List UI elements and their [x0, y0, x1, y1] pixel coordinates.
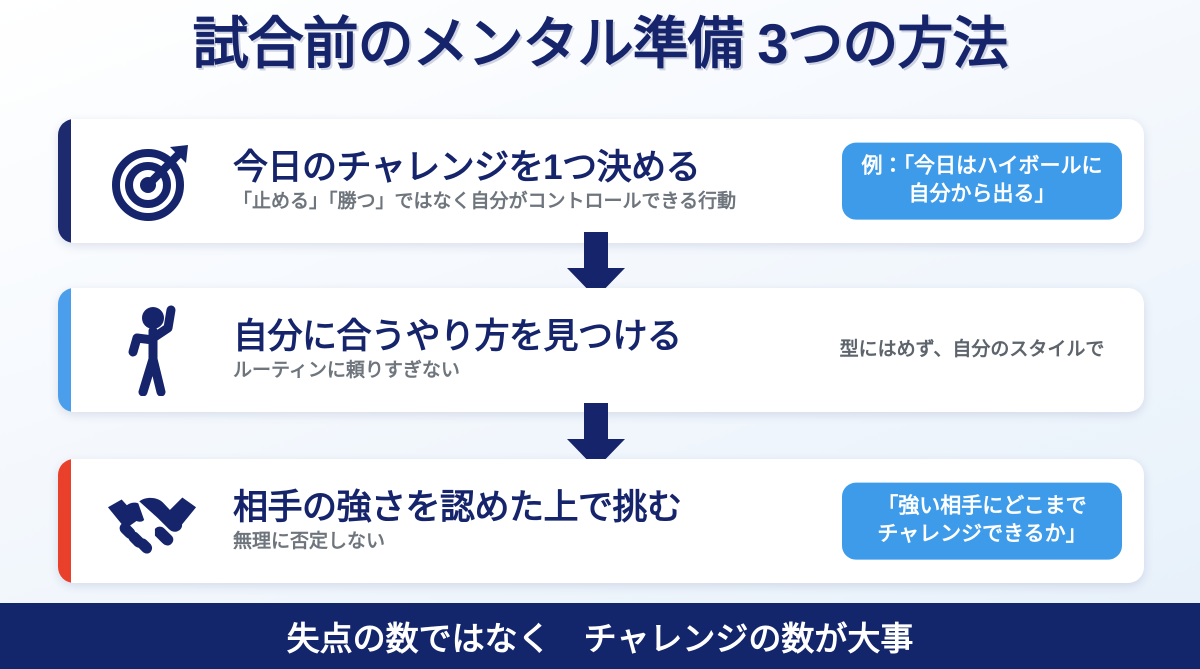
- card-2-heading: 自分に合うやり方を見つける: [233, 317, 682, 356]
- card-3-badge-line-1: 「強い相手にどこまで: [850, 493, 1114, 521]
- card-1-text-block: 今日のチャレンジを1つ決める 「止める」「勝つ」ではなく自分がコントロールできる…: [233, 148, 736, 214]
- page-title: 試合前のメンタル準備 3つの方法: [0, 16, 1200, 72]
- target-arrow-icon: [106, 135, 198, 227]
- card-1-badge-line-1: 例：「今日はハイボールに: [850, 153, 1114, 181]
- card-3-text-block: 相手の強さを認めた上で挑む 無理に否定しない: [233, 488, 682, 554]
- bottom-banner: 失点の数ではなく チャレンジの数が大事: [0, 603, 1200, 669]
- accent-bar-3: [58, 459, 71, 583]
- handshake-icon: [106, 475, 198, 567]
- card-1-heading: 今日のチャレンジを1つ決める: [233, 148, 736, 187]
- accent-bar-2: [58, 288, 71, 412]
- card-2-note-line-1: 型にはめず、自分のスタイルで: [822, 337, 1122, 363]
- accent-bar-1: [58, 119, 71, 243]
- card-2-text-block: 自分に合うやり方を見つける ルーティンに頼りすぎない: [233, 317, 682, 383]
- card-2-subtitle: ルーティンに頼りすぎない: [233, 359, 682, 383]
- card-1-subtitle: 「止める」「勝つ」ではなく自分がコントロールできる行動: [233, 190, 736, 214]
- card-1-badge-line-2: 自分から出る」: [850, 181, 1114, 209]
- card-1-example-badge: 例：「今日はハイボールに 自分から出る」: [842, 143, 1122, 220]
- person-raised-arm-icon: [106, 304, 198, 396]
- card-3-heading: 相手の強さを認めた上で挑む: [233, 488, 682, 527]
- method-card-2[interactable]: 自分に合うやり方を見つける ルーティンに頼りすぎない 型にはめず、自分のスタイル…: [58, 288, 1144, 412]
- card-2-note: 型にはめず、自分のスタイルで: [822, 337, 1122, 363]
- method-card-3[interactable]: 相手の強さを認めた上で挑む 無理に否定しない 「強い相手にどこまで チャレンジで…: [58, 459, 1144, 583]
- card-3-badge-line-2: チャレンジできるか」: [850, 521, 1114, 549]
- method-card-1[interactable]: 今日のチャレンジを1つ決める 「止める」「勝つ」ではなく自分がコントロールできる…: [58, 119, 1144, 243]
- card-3-subtitle: 無理に否定しない: [233, 530, 682, 554]
- banner-text: 失点の数ではなく チャレンジの数が大事: [287, 612, 914, 660]
- card-3-example-badge: 「強い相手にどこまで チャレンジできるか」: [842, 483, 1122, 560]
